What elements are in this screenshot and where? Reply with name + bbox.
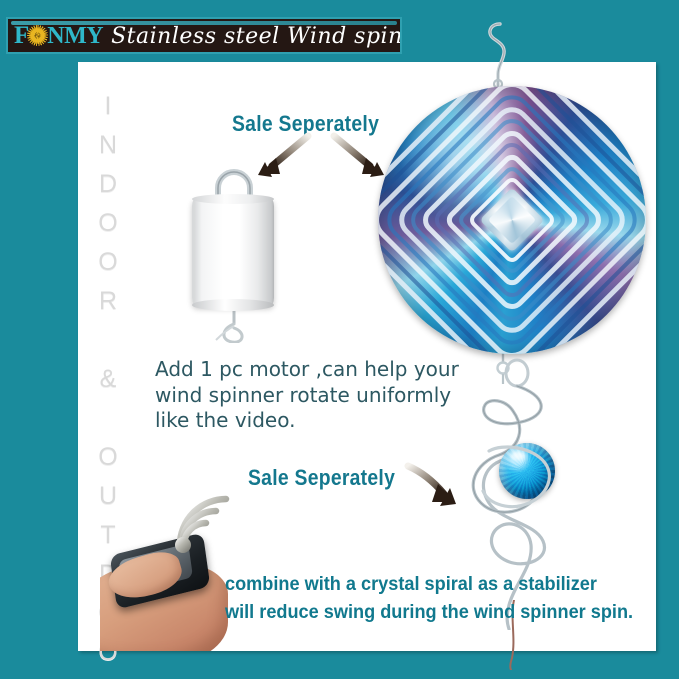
blue-crystal-ball xyxy=(499,443,555,499)
brand-tagline: Stainless steel Wind spinner xyxy=(111,24,402,49)
arrow-pair-to-motor-and-spinner xyxy=(250,130,395,192)
product-infographic: FNMY Stainless steel Wind spinner INDOOR… xyxy=(0,0,679,679)
brand-header-bar: FNMY Stainless steel Wind spinner xyxy=(6,17,402,54)
heading-sale-separately-spiral: Sale Seperately xyxy=(248,465,395,491)
motor-description-line-3: like the video. xyxy=(155,408,495,434)
spiral-description-line-1: combine with a crystal spiral as a stabi… xyxy=(225,570,644,598)
brand-wordmark: FNMY Stainless steel Wind spinner xyxy=(8,22,402,50)
white-motor-cylinder xyxy=(182,168,286,343)
spinner-body xyxy=(378,86,646,354)
motor-body xyxy=(192,198,274,306)
motor-description: Add 1 pc motor ,can help your wind spinn… xyxy=(155,357,495,434)
brand-letters-nmy: NMY xyxy=(47,23,103,50)
vertical-usage-label: INDOOR & OUTDOOR USE xyxy=(84,92,120,532)
wifi-signal-icon xyxy=(166,487,238,557)
curved-arrow-down-left xyxy=(272,136,308,166)
brand-letter-f: F xyxy=(14,22,28,50)
spiral-description-line-2: will reduce swing during the wind spinne… xyxy=(225,598,644,626)
motor-description-line-2: wind spinner rotate uniformly xyxy=(155,383,495,409)
spiral-description: combine with a crystal spiral as a stabi… xyxy=(225,570,644,627)
wind-spinner-disc xyxy=(378,86,646,354)
curved-arrow-to-spiral xyxy=(400,462,460,510)
curved-arrow-down-right xyxy=(334,136,370,166)
sunflower-icon xyxy=(29,27,46,44)
s-hook-icon xyxy=(480,16,520,90)
motor-description-line-1: Add 1 pc motor ,can help your xyxy=(155,357,495,383)
